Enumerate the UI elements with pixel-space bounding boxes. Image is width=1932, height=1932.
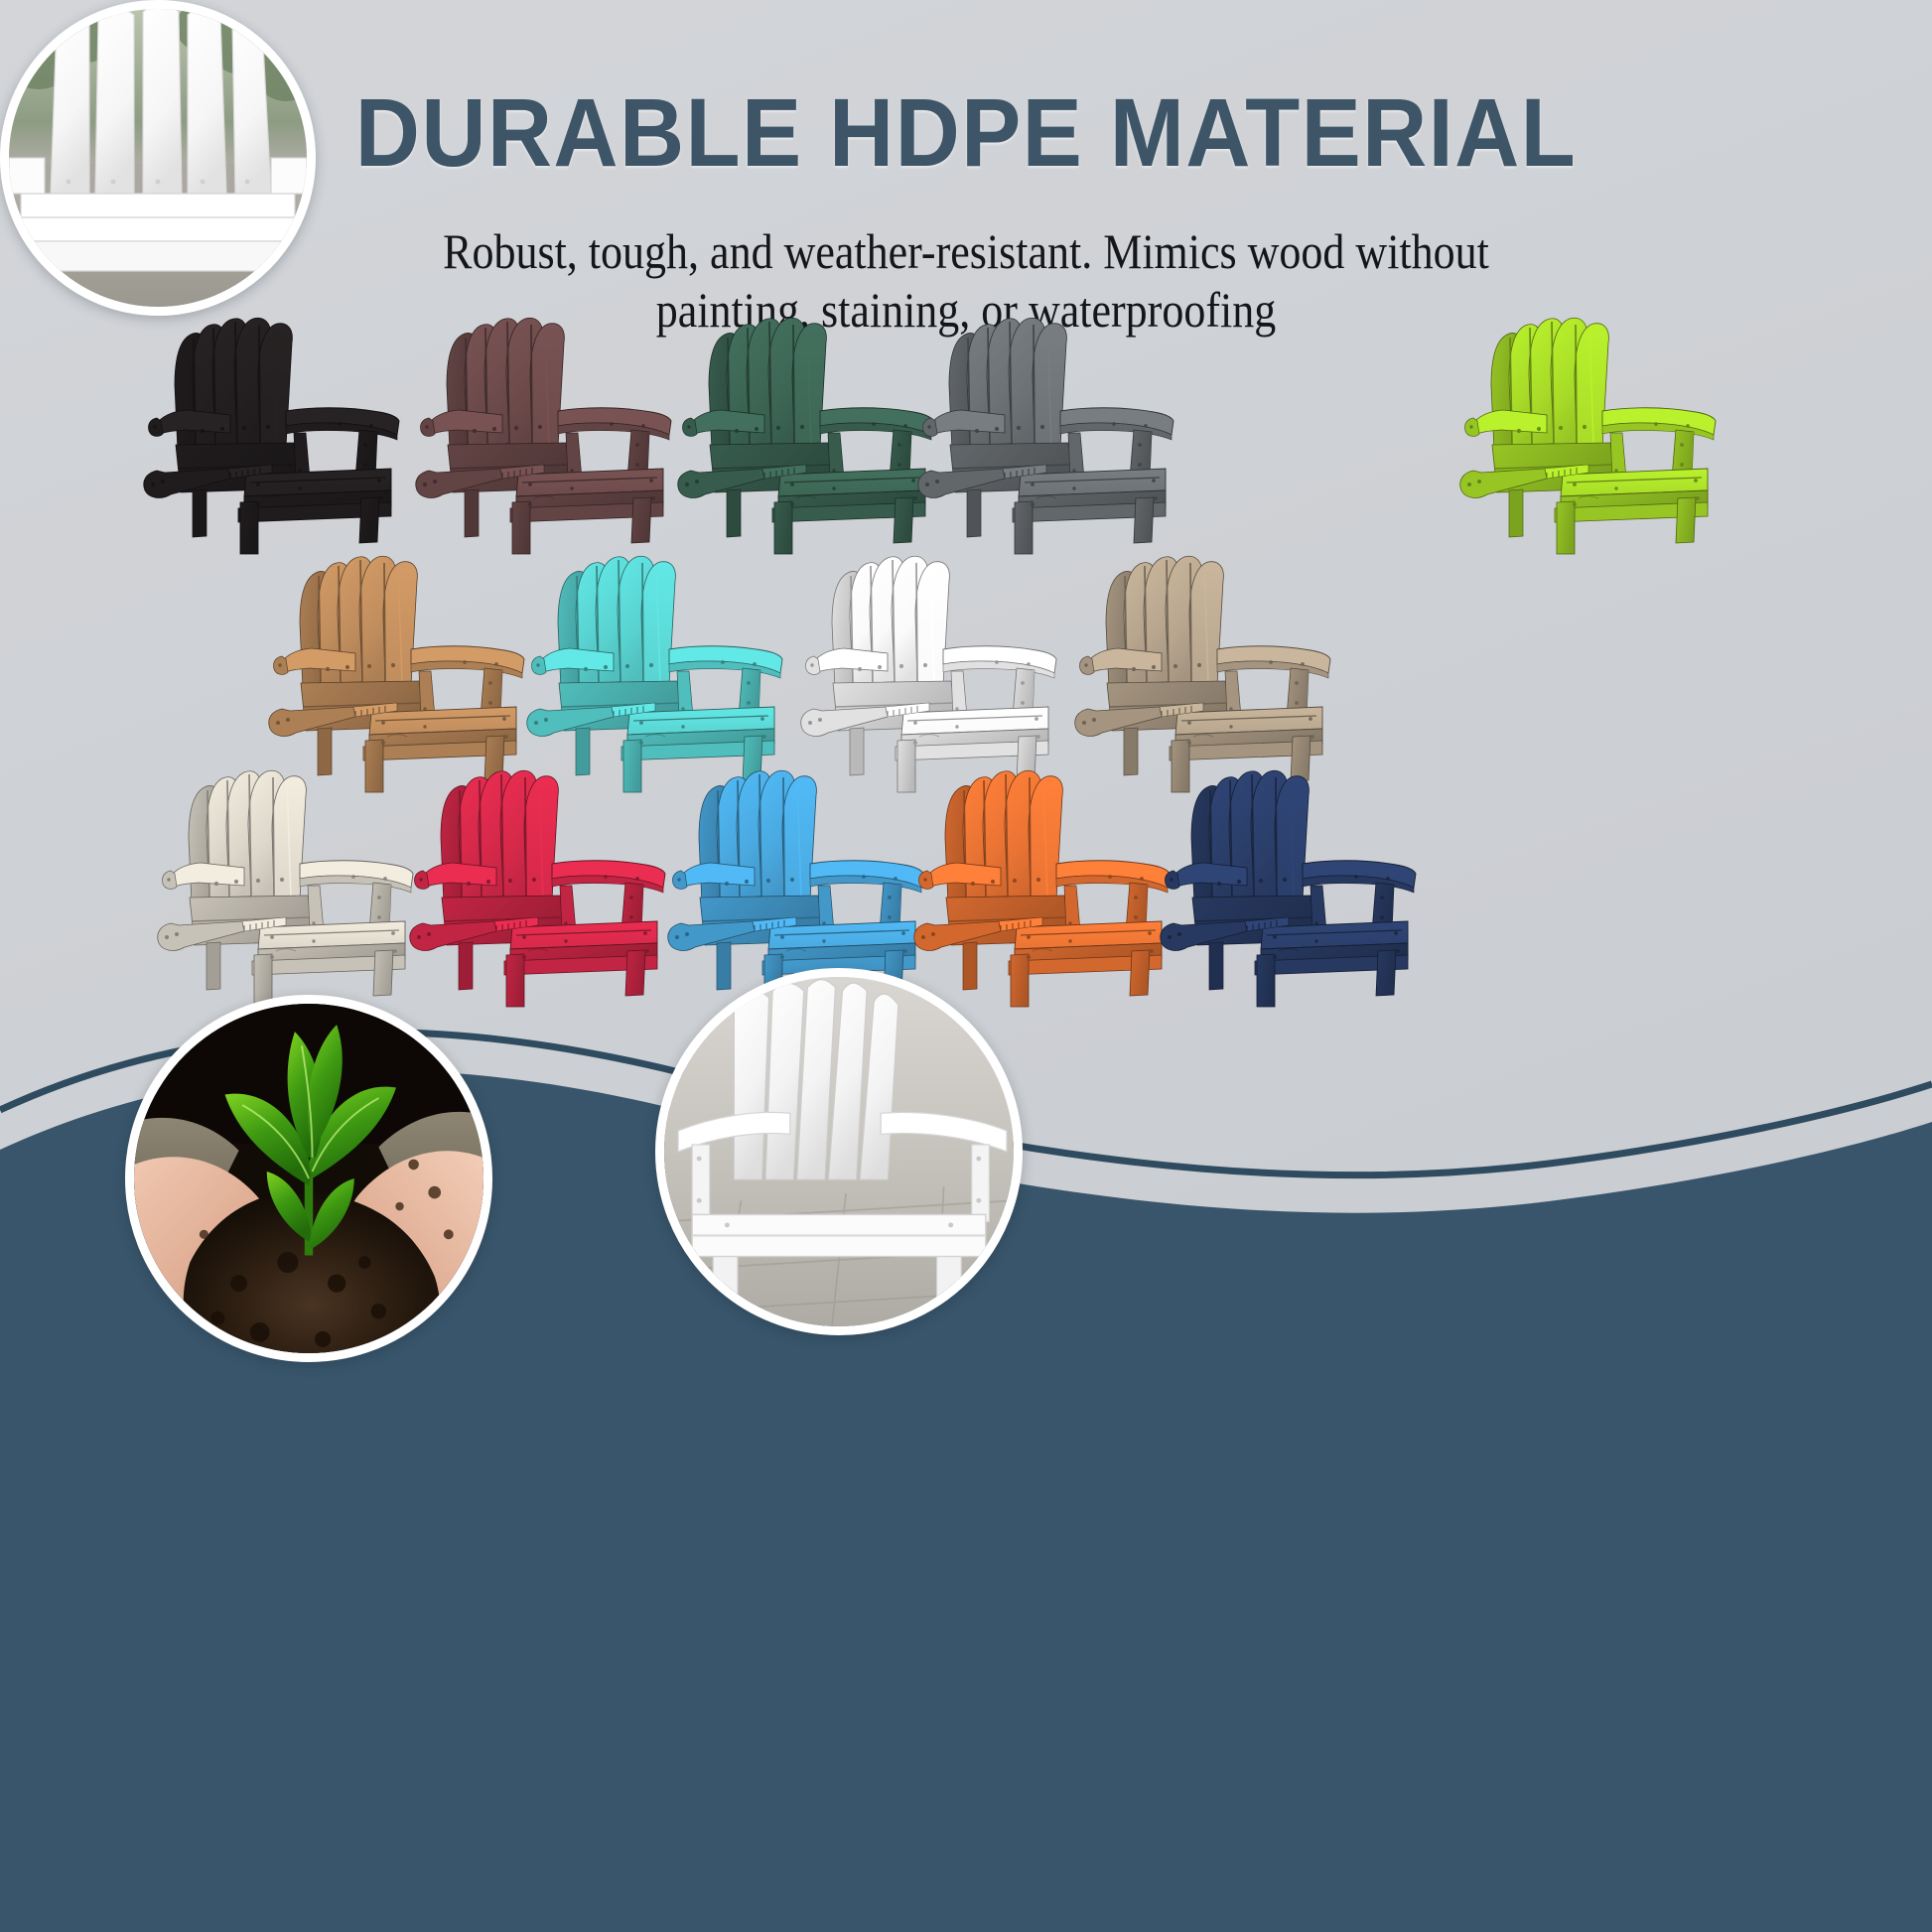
chair-black[interactable]	[135, 294, 433, 540]
feature-photo-wide	[0, 0, 316, 316]
chair-brown[interactable]	[407, 294, 705, 540]
chair-row-2	[0, 532, 1932, 770]
chair-navy-blue[interactable]	[1152, 747, 1449, 993]
chair-row-3	[0, 747, 1932, 985]
chair-gray[interactable]	[909, 294, 1207, 540]
chair-lime-green[interactable]	[1451, 294, 1749, 540]
chair-khaki[interactable]	[1066, 532, 1364, 778]
feature-photo-built	[655, 968, 1023, 1335]
feature-photo-eco	[125, 995, 492, 1362]
page-title: DURABLE HDPE MATERIAL	[68, 77, 1864, 189]
chair-red[interactable]	[401, 747, 699, 993]
chair-row-1	[0, 294, 1932, 532]
chair-white[interactable]	[792, 532, 1090, 778]
chair-turquoise[interactable]	[518, 532, 816, 778]
chair-teak[interactable]	[260, 532, 558, 778]
